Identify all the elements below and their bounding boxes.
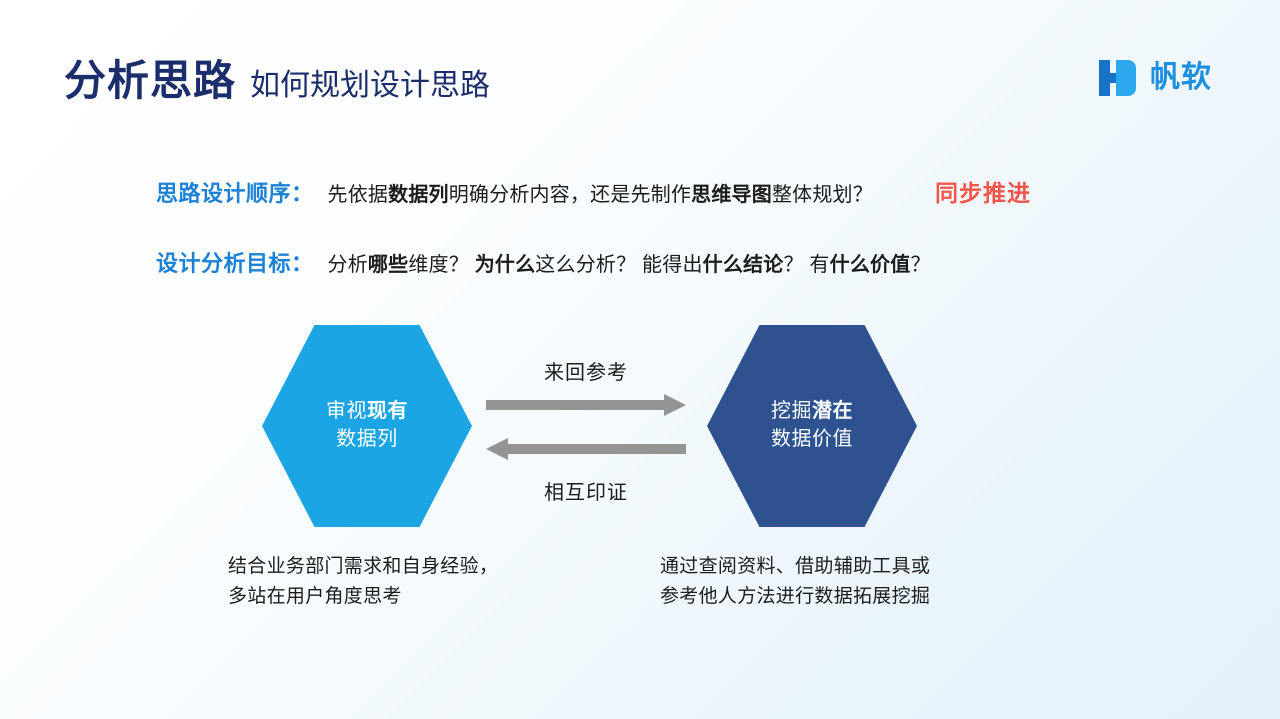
caption-right-line-2: 参考他人方法进行数据拓展挖掘 <box>660 582 930 612</box>
question-row-2: 设计分析目标： 分析哪些维度？ 为什么这么分析？ 能得出什么结论？ 有什么价值？ <box>156 246 931 278</box>
arrow-left-icon <box>486 438 686 460</box>
question-2-part-4: 这么分析？ 能得出 <box>535 254 702 276</box>
caption-left-line-2: 多站在用户角度思考 <box>228 582 498 612</box>
question-2-part-5: 什么结论 <box>703 254 784 276</box>
hex-left-line1-normal: 审视 <box>326 400 367 422</box>
arrow-right-icon <box>486 394 686 416</box>
question-2-part-3: 为什么 <box>475 254 536 276</box>
question-2-part-0: 分析 <box>328 254 368 276</box>
question-highlight-1: 同步推进 <box>935 174 1031 208</box>
hex-left-line-1: 审视现有 <box>326 398 408 426</box>
fanruan-logo-icon <box>1096 56 1138 100</box>
hex-node-right: 挖掘潜在 数据价值 <box>707 325 917 527</box>
hex-node-right-shape: 挖掘潜在 数据价值 <box>707 325 917 527</box>
question-label-2: 设计分析目标： <box>156 246 314 278</box>
hex-left-line1-bold: 现有 <box>367 400 408 422</box>
arrow-group: 来回参考 相互印证 <box>486 356 686 516</box>
slide-header: 分析思路 如何规划设计思路 帆软 <box>0 0 1280 140</box>
process-diagram: 审视现有 数据列 来回参考 相互印证 挖掘潜在 数据价值 <box>0 320 1280 640</box>
hex-node-left: 审视现有 数据列 <box>262 325 472 527</box>
question-body-1: 先依据数据列明确分析内容，还是先制作思维导图整体规划？ <box>328 178 873 207</box>
caption-left-line-1: 结合业务部门需求和自身经验， <box>228 552 498 582</box>
question-2-part-6: ？ 有 <box>783 254 829 276</box>
title-main-text: 分析思路 <box>64 60 236 102</box>
question-2-part-8: ？ <box>910 254 930 276</box>
question-1-part-1: 数据列 <box>388 184 449 206</box>
question-row-1: 思路设计顺序： 先依据数据列明确分析内容，还是先制作思维导图整体规划？ 同步推进 <box>156 174 1031 208</box>
arrow-bottom-label: 相互印证 <box>486 476 686 505</box>
question-1-part-2: 明确分析内容，还是先制作 <box>449 184 691 206</box>
question-body-2: 分析哪些维度？ 为什么这么分析？ 能得出什么结论？ 有什么价值？ <box>328 248 931 277</box>
hex-right-line-1: 挖掘潜在 <box>771 398 853 426</box>
question-1-part-0: 先依据 <box>328 184 389 206</box>
hex-right-line-2: 数据价值 <box>771 426 853 454</box>
question-2-part-1: 哪些 <box>368 254 408 276</box>
question-2-part-7: 什么价值 <box>830 254 911 276</box>
title-subtitle-text: 如何规划设计思路 <box>250 71 490 101</box>
question-1-part-4: 整体规划？ <box>772 184 873 206</box>
caption-left: 结合业务部门需求和自身经验， 多站在用户角度思考 <box>228 552 498 613</box>
hex-right-line1-bold: 潜在 <box>812 400 853 422</box>
caption-right: 通过查阅资料、借助辅助工具或 参考他人方法进行数据拓展挖掘 <box>660 552 930 613</box>
hex-left-line-2: 数据列 <box>336 426 398 454</box>
question-2-part-2: 维度？ <box>408 254 474 276</box>
question-label-1: 思路设计顺序： <box>156 176 314 208</box>
brand-logo: 帆软 <box>1096 56 1212 100</box>
arrow-top-label: 来回参考 <box>486 356 686 385</box>
hex-right-line1-normal: 挖掘 <box>771 400 812 422</box>
hex-node-left-shape: 审视现有 数据列 <box>262 325 472 527</box>
logo-brand-text: 帆软 <box>1150 63 1212 93</box>
page-title: 分析思路 如何规划设计思路 <box>64 60 490 102</box>
caption-right-line-1: 通过查阅资料、借助辅助工具或 <box>660 552 930 582</box>
question-1-part-3: 思维导图 <box>691 184 772 206</box>
